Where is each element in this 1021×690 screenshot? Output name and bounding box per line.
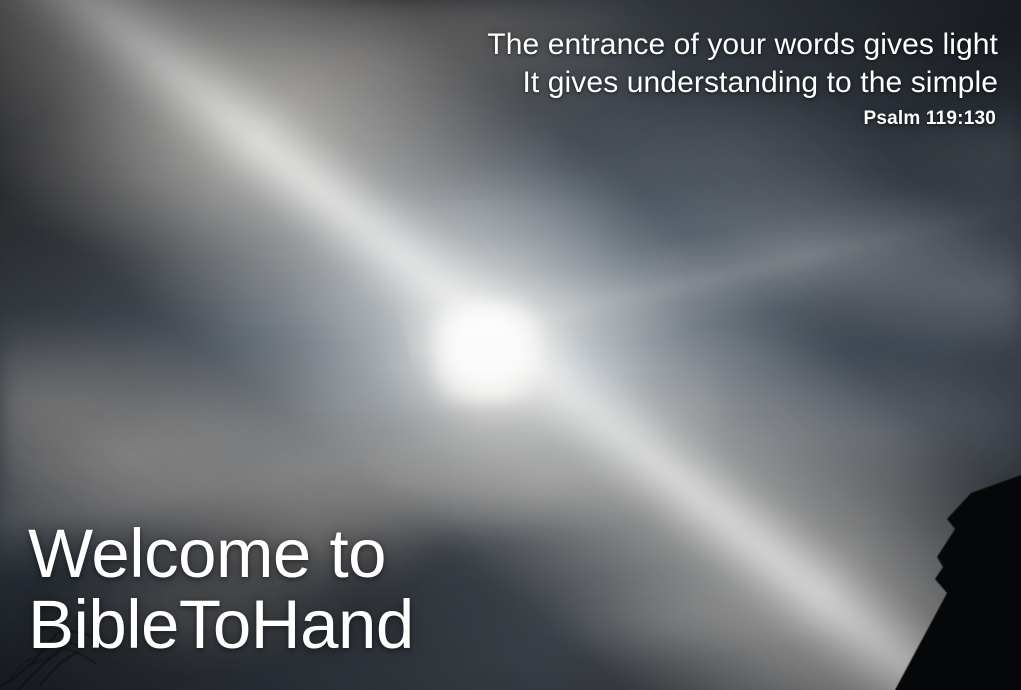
sun-core: [432, 302, 542, 402]
scripture-line-2: It gives understanding to the simple: [487, 64, 998, 102]
app-name-line: BibleToHand: [28, 589, 414, 660]
roof-silhouette: [851, 475, 1021, 690]
scripture-overlay: The entrance of your words gives light I…: [487, 26, 998, 131]
scripture-line-1: The entrance of your words gives light: [487, 26, 998, 64]
welcome-line-1: Welcome to: [28, 518, 414, 589]
sun-ray-secondary-right: [398, 144, 1021, 392]
welcome-title: Welcome to BibleToHand: [28, 518, 414, 660]
welcome-splash-screen: The entrance of your words gives light I…: [0, 0, 1021, 690]
sun-lens-flare: [430, 300, 670, 450]
sun-glow-halo: [300, 175, 680, 535]
scripture-reference: Psalm 119:130: [487, 107, 996, 131]
